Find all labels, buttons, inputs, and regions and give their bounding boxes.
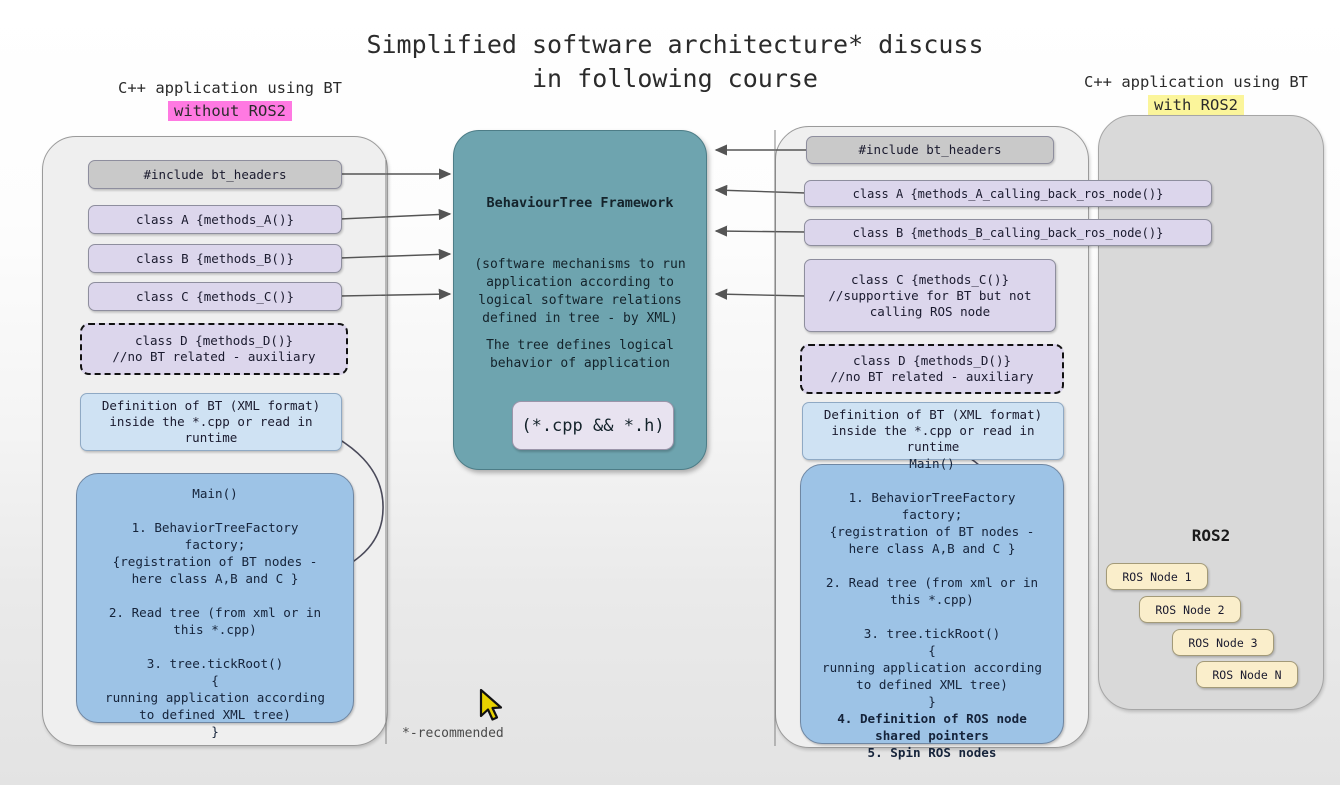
right-class-b[interactable]: class B {methods_B_calling_back_ros_node… xyxy=(804,219,1212,246)
left-column-title: C++ application using BT without ROS2 xyxy=(85,78,375,122)
ros-node-3[interactable]: ROS Node 3 xyxy=(1172,629,1274,656)
right-main-ros-steps: 4. Definition of ROS node shared pointer… xyxy=(807,710,1057,761)
left-column-title-line2: without ROS2 xyxy=(168,101,292,121)
left-class-b[interactable]: class B {methods_B()} xyxy=(88,244,342,273)
left-class-d[interactable]: class D {methods_D()} //no BT related - … xyxy=(80,323,348,375)
mouse-pointer-icon xyxy=(478,688,508,724)
ros-node-n[interactable]: ROS Node N xyxy=(1196,661,1298,688)
behaviourtree-framework-box[interactable]: BehaviourTree Framework (software mechan… xyxy=(453,130,707,470)
page-title: Simplified software architecture* discus… xyxy=(345,28,1005,96)
right-main-text: Main() 1. BehaviorTreeFactory factory; {… xyxy=(807,447,1057,710)
framework-body-2: The tree defines logical behavior of app… xyxy=(462,337,698,373)
right-class-d[interactable]: class D {methods_D()} //no BT related - … xyxy=(800,344,1064,394)
right-column-title: C++ application using BT with ROS2 xyxy=(1062,72,1330,116)
right-include-bt-headers[interactable]: #include bt_headers xyxy=(806,136,1054,164)
cpp-header-chip[interactable]: (*.cpp && *.h) xyxy=(512,401,674,450)
diagram-canvas: Simplified software architecture* discus… xyxy=(0,0,1340,785)
ros-node-1[interactable]: ROS Node 1 xyxy=(1106,563,1208,590)
footnote-recommended: *-recommended xyxy=(402,726,504,741)
left-main-text: Main() 1. BehaviorTreeFactory factory; {… xyxy=(83,477,347,740)
right-column-title-line1: C++ application using BT xyxy=(1062,72,1330,93)
right-main-function[interactable]: Main() 1. BehaviorTreeFactory factory; {… xyxy=(800,464,1064,744)
left-class-a[interactable]: class A {methods_A()} xyxy=(88,205,342,234)
left-column-title-line1: C++ application using BT xyxy=(85,78,375,99)
left-include-bt-headers[interactable]: #include bt_headers xyxy=(88,160,342,189)
right-class-a[interactable]: class A {methods_A_calling_back_ros_node… xyxy=(804,180,1212,207)
framework-heading: BehaviourTree Framework xyxy=(454,195,706,211)
left-class-c[interactable]: class C {methods_C()} xyxy=(88,282,342,311)
framework-body-1: (software mechanisms to run application … xyxy=(462,256,698,328)
right-class-c[interactable]: class C {methods_C()} //supportive for B… xyxy=(804,259,1056,332)
right-column-title-line2: with ROS2 xyxy=(1148,95,1244,115)
left-bt-definition[interactable]: Definition of BT (XML format) inside the… xyxy=(80,393,342,451)
ros-node-2[interactable]: ROS Node 2 xyxy=(1139,596,1241,623)
ros2-panel-label: ROS2 xyxy=(1099,526,1323,545)
left-main-function[interactable]: Main() 1. BehaviorTreeFactory factory; {… xyxy=(76,473,354,723)
